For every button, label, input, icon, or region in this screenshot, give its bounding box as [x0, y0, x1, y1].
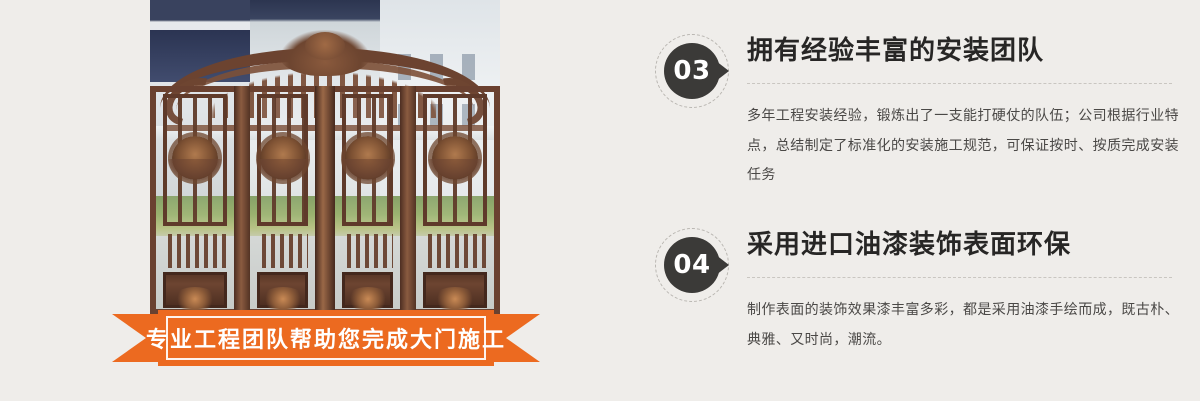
ribbon-panel: 专业工程团队帮助您完成大门施工	[158, 310, 494, 366]
gate-panel	[156, 86, 234, 315]
gate-panel	[250, 86, 315, 315]
gate-photo	[150, 0, 500, 315]
feature-number: 03	[673, 58, 710, 84]
feature-number: 04	[673, 252, 710, 278]
feature-number-badge: 04	[655, 228, 729, 302]
gate-post	[234, 86, 250, 315]
feature-content: 拥有经验丰富的安装团队 多年工程安装经验，锻炼出了一支能打硬仗的队伍；公司根据行…	[747, 34, 1187, 191]
ribbon-label: 专业工程团队帮助您完成大门施工	[146, 322, 506, 354]
badge-circle: 03	[664, 43, 720, 99]
feature-description: 制作表面的装饰效果漆丰富多彩，都是采用油漆手绘而成，既古朴、典雅、又时尚，潮流。	[747, 296, 1187, 355]
badge-circle: 04	[664, 237, 720, 293]
gate-post	[400, 86, 416, 315]
feature-title: 拥有经验丰富的安装团队	[747, 34, 1187, 69]
feature-content: 采用进口油漆装饰表面环保 制作表面的装饰效果漆丰富多彩，都是采用油漆手绘而成，既…	[747, 228, 1187, 355]
feature-title: 采用进口油漆装饰表面环保	[747, 228, 1187, 263]
bronze-gate	[150, 86, 500, 315]
feature-list: 03 拥有经验丰富的安装团队 多年工程安装经验，锻炼出了一支能打硬仗的队伍；公司…	[655, 0, 1200, 401]
feature-divider	[747, 83, 1172, 84]
ribbon-banner: 专业工程团队帮助您完成大门施工	[112, 310, 540, 366]
gate-panel	[335, 86, 400, 315]
feature-divider	[747, 277, 1172, 278]
gate-panel	[416, 86, 494, 315]
gate-center-post	[315, 86, 335, 315]
feature-banner: 专业工程团队帮助您完成大门施工 03 拥有经验丰富的安装团队 多年工程安装经验，…	[0, 0, 1200, 401]
feature-number-badge: 03	[655, 34, 729, 108]
gate-photo-image	[150, 0, 500, 315]
feature-description: 多年工程安装经验，锻炼出了一支能打硬仗的队伍；公司根据行业特点，总结制定了标准化…	[747, 102, 1187, 191]
